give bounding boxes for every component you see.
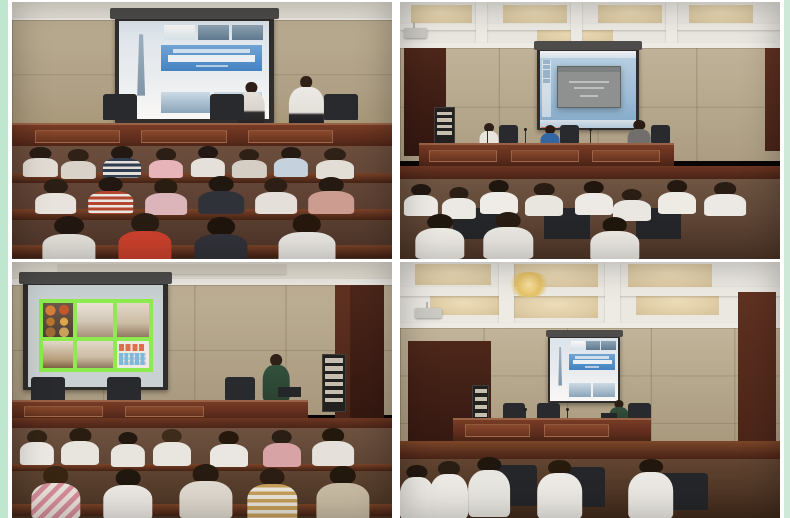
ceiling-light-coffer [689, 5, 754, 23]
slide-thumb [569, 383, 591, 397]
dialog-text-line [569, 81, 609, 83]
audience-member [255, 178, 297, 213]
green-collage-box [39, 299, 153, 372]
audience-member [484, 212, 533, 258]
audience-member [61, 149, 95, 178]
photo-top-right [400, 2, 780, 259]
screen-roller [534, 41, 643, 50]
slide-title-band [161, 45, 262, 71]
slide-bottom-thumbnails [569, 383, 614, 397]
screen-roller [19, 272, 172, 284]
audience-member [575, 181, 613, 214]
photo-bottom-left [12, 262, 392, 518]
slide-thumb [232, 25, 263, 40]
audience-member [198, 176, 244, 213]
slide-thumb [601, 341, 615, 350]
projection-screen-frame [537, 48, 640, 130]
head-table [12, 123, 392, 149]
audience-member [153, 429, 191, 465]
stage-chair [651, 125, 670, 143]
audience-member [191, 146, 225, 176]
audience-member [537, 460, 583, 518]
ceiling-light-coffer [514, 295, 598, 318]
slide-thumbnail-row [571, 341, 616, 350]
audience-member [400, 465, 434, 518]
board-row [437, 131, 451, 135]
collage-photo-food [43, 303, 73, 336]
audience-member [316, 466, 369, 518]
information-board [322, 354, 347, 412]
audience-member [23, 147, 57, 176]
audience-member [31, 466, 80, 518]
ceiling-projector [404, 28, 427, 38]
audience-member [61, 428, 99, 464]
head-table [453, 418, 651, 441]
window-sidebar [542, 60, 552, 117]
window-title-bar [540, 51, 636, 58]
slide-main-title-line [573, 360, 612, 364]
dialog-box [557, 66, 621, 108]
board-row [437, 112, 451, 116]
photo-panel-top-left[interactable] [12, 2, 392, 259]
audience-member [35, 179, 77, 213]
audience-member [468, 457, 510, 516]
stage-chair [324, 94, 358, 120]
table-panel [592, 150, 660, 162]
slide-logo [571, 341, 585, 350]
dialog-title-bar [558, 67, 620, 72]
stage-chair [210, 94, 244, 120]
audience-area [400, 179, 780, 259]
table-panel [141, 130, 227, 143]
collage-photo-chart [117, 341, 149, 369]
photo-collage [0, 0, 790, 518]
ceiling-light-coffer [503, 5, 568, 23]
audience-member [210, 431, 248, 466]
audience-member [103, 146, 141, 178]
stage-chair [499, 125, 518, 143]
projection-screen-frame [23, 282, 167, 390]
collage-photo-room [77, 303, 113, 336]
stage-chair [225, 377, 255, 400]
ceiling-light-coffer [415, 264, 491, 285]
audience-member [525, 183, 563, 216]
screen-roller [110, 8, 279, 20]
table-panel [429, 150, 497, 162]
laptop [278, 387, 301, 397]
slide-byline [585, 366, 600, 368]
wood-column [350, 285, 384, 429]
board-row [325, 374, 343, 379]
audience-member [480, 180, 518, 213]
board-row [325, 366, 343, 371]
slide-thumb [198, 25, 229, 40]
board-row [475, 405, 487, 409]
slide-byline [196, 65, 228, 68]
table-panel [465, 424, 530, 436]
board-row [475, 413, 487, 417]
table-panel [248, 130, 334, 143]
ceiling-light-coffer [598, 5, 663, 23]
projection-screen-frame [548, 336, 620, 403]
ceiling-light-coffer [628, 264, 712, 287]
slide-main-title-line [168, 55, 254, 62]
board-row [325, 398, 343, 403]
audience-member [118, 213, 171, 258]
ceiling-beam [400, 24, 780, 31]
slide-thumb [586, 341, 600, 350]
audience-member [704, 182, 746, 215]
table-panel [35, 130, 121, 143]
projection-screen [540, 51, 636, 128]
projection-screen [28, 285, 164, 386]
audience-member [404, 184, 438, 216]
ceiling-beam [476, 2, 487, 48]
ceiling-projector [415, 308, 442, 318]
collage-photo-room [77, 341, 113, 369]
photo-panel-bottom-left[interactable] [12, 262, 392, 518]
screen-roller [546, 330, 623, 337]
audience-area [400, 459, 780, 518]
ceiling-beam [400, 287, 780, 296]
wood-column [738, 292, 776, 451]
dialog-text-line [574, 87, 604, 89]
table-panel [125, 406, 204, 417]
audience-member [248, 468, 297, 518]
audience-member [312, 428, 354, 465]
head-table [419, 143, 674, 166]
ceiling-light-coffer [411, 5, 472, 23]
stage-chair [560, 125, 579, 143]
wood-column [765, 48, 780, 151]
audience-area [12, 428, 392, 518]
information-board [434, 107, 455, 145]
slide-thumb [161, 92, 209, 114]
audience-member [628, 459, 674, 518]
slide-thumb [593, 383, 615, 397]
board-row [325, 382, 343, 387]
audience-member [179, 464, 232, 518]
collage-photo-desk [43, 341, 73, 369]
stage-chair [31, 377, 65, 403]
ceiling-beam [666, 2, 677, 48]
audience-member [316, 148, 354, 178]
audience-member [415, 214, 464, 259]
table-panel [511, 150, 579, 162]
audience-member [658, 180, 696, 213]
audience-member [194, 217, 247, 259]
audience-member [590, 217, 639, 258]
collage-grid [8, 0, 784, 518]
slide-subtitle-line [575, 356, 610, 359]
dialog-text-line [580, 95, 597, 97]
audience-member [103, 469, 152, 518]
audience-member [111, 432, 145, 466]
slide-windows-desktop [540, 51, 636, 128]
audience-area [12, 146, 392, 259]
board-row [475, 389, 487, 393]
photo-panel-top-right[interactable] [400, 2, 780, 259]
audience-member [274, 147, 308, 176]
stage-chair [107, 377, 141, 403]
information-board [472, 385, 489, 423]
slide-logo [164, 25, 195, 40]
audience-member [42, 216, 95, 259]
board-row [475, 397, 487, 401]
photo-bottom-right [400, 262, 780, 518]
slide-thumbnail-row [164, 25, 263, 40]
audience-member [613, 189, 651, 221]
audience-member [430, 461, 468, 518]
slide-title [550, 338, 618, 401]
stage-chair [103, 94, 137, 120]
audience-member [20, 430, 54, 464]
audience-member [149, 148, 183, 177]
presenter-body [289, 87, 323, 128]
slide-title-band [569, 354, 614, 370]
audience-member [88, 177, 134, 213]
table-panel [544, 424, 609, 436]
board-row [325, 390, 343, 395]
board-row [325, 358, 343, 363]
audience-member [145, 179, 187, 214]
table-panel [24, 406, 103, 417]
board-row [437, 118, 451, 122]
presenter-male [289, 76, 323, 127]
slide-subtitle-line [173, 49, 249, 53]
projection-screen [550, 338, 618, 401]
right-border-strip [784, 0, 790, 518]
board-row [437, 125, 451, 129]
audience-member [263, 430, 301, 466]
audience-member [308, 177, 354, 213]
photo-panel-bottom-right[interactable] [400, 262, 780, 518]
slide-green-collage [28, 285, 164, 386]
collage-photo-room [117, 303, 149, 336]
audience-member [278, 214, 335, 258]
photo-top-left [12, 2, 392, 259]
audience-member [232, 149, 266, 177]
left-border-strip [0, 0, 8, 518]
